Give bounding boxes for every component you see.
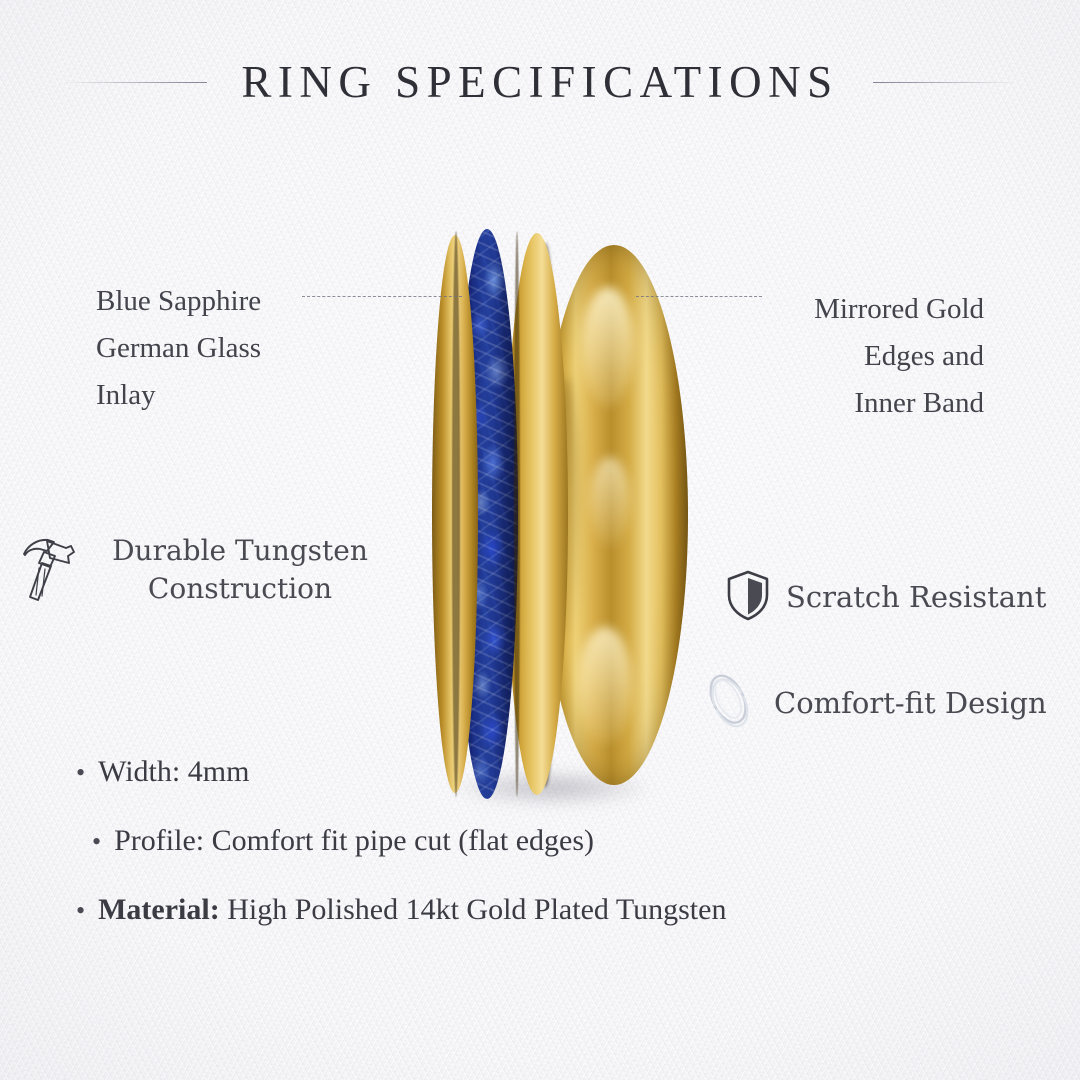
inner-band-highlight-mid — [590, 457, 630, 547]
inner-band-highlight-bottom — [578, 627, 632, 745]
ring-edge-groove-right — [514, 231, 520, 797]
spec-item-profile-text: Profile: Comfort fit pipe cut (flat edge… — [114, 819, 594, 863]
bullet-marker: • — [76, 751, 85, 795]
title-rule-right — [873, 82, 1018, 83]
page-title: RING SPECIFICATIONS — [241, 56, 838, 108]
callout-inlay: Blue Sapphire German Glass Inlay — [96, 278, 316, 419]
spec-item-width: • Width: 4mm — [76, 750, 1080, 795]
bullet-marker: • — [76, 889, 85, 933]
spec-label: Width: — [98, 755, 180, 788]
leader-line-inlay — [302, 296, 462, 297]
spec-label: Material: — [98, 893, 220, 926]
callout-inlay-line-3: Inlay — [96, 372, 316, 419]
feature-comfort-fit-label: Comfort-fit Design — [774, 684, 1047, 722]
spec-value: Comfort fit pipe cut (flat edges) — [212, 824, 594, 857]
spec-item-width-text: Width: 4mm — [98, 750, 249, 794]
leader-line-gold-edges — [636, 296, 762, 297]
spec-value: High Polished 14kt Gold Plated Tungsten — [227, 893, 726, 926]
spec-list: • Width: 4mm • Profile: Comfort fit pipe… — [0, 750, 1080, 933]
spec-item-material-text: Material: High Polished 14kt Gold Plated… — [98, 888, 726, 932]
spec-sheet-canvas: RING SPECIFICATIONS Blue Sapphire German — [0, 0, 1080, 1080]
feature-comfort-fit: Comfort-fit Design — [698, 670, 1047, 736]
callout-inlay-line-1: Blue Sapphire — [96, 278, 316, 325]
callout-gold-edges: Mirrored Gold Edges and Inner Band — [754, 286, 984, 427]
feature-label-line-1: Durable Tungsten — [112, 534, 368, 567]
feature-label-line-2: Construction — [148, 572, 332, 605]
callout-gold-edges-line-2: Edges and — [754, 333, 984, 380]
callout-gold-edges-line-1: Mirrored Gold — [754, 286, 984, 333]
inner-band-highlight-top — [582, 287, 634, 407]
page-title-row: RING SPECIFICATIONS — [0, 56, 1080, 108]
spec-label: Profile: — [114, 824, 204, 857]
callout-inlay-line-2: German Glass — [96, 325, 316, 372]
hammer-icon — [14, 532, 80, 608]
shield-icon — [724, 568, 772, 626]
ring-band-icon — [698, 670, 760, 736]
feature-durable-tungsten-label: Durable Tungsten Construction — [94, 532, 386, 608]
ring-body — [432, 227, 684, 799]
callout-gold-edges-line-3: Inner Band — [754, 380, 984, 427]
ring-edge-groove-left — [452, 231, 460, 797]
title-rule-left — [62, 82, 207, 83]
bullet-marker: • — [92, 820, 101, 864]
spec-item-profile: • Profile: Comfort fit pipe cut (flat ed… — [92, 819, 1080, 864]
feature-scratch-resistant: Scratch Resistant — [724, 568, 1046, 626]
spec-value: 4mm — [188, 755, 250, 788]
ring-product-image — [400, 205, 730, 825]
spec-item-material: • Material: High Polished 14kt Gold Plat… — [76, 888, 1080, 933]
feature-scratch-resistant-label: Scratch Resistant — [786, 578, 1046, 616]
feature-durable-tungsten: Durable Tungsten Construction — [14, 532, 386, 608]
